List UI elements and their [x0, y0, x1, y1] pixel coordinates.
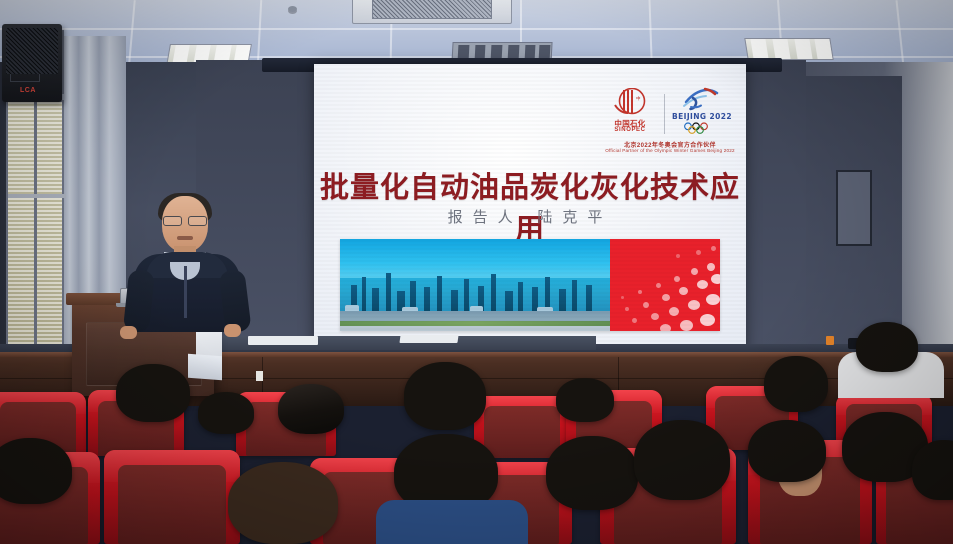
audience-head	[404, 362, 486, 430]
audience-head	[116, 364, 190, 422]
audience-head	[856, 322, 918, 372]
ceiling-ac-unit	[352, 0, 512, 24]
wall-notice-frame	[836, 170, 872, 246]
audience-head	[634, 420, 730, 500]
audience-head	[556, 378, 614, 422]
right-wall	[800, 62, 953, 362]
audience-head	[546, 436, 638, 510]
audience-head	[748, 420, 826, 482]
presenter-glasses-icon	[163, 216, 207, 224]
podium-documents-2	[188, 354, 222, 380]
stage-label-tag	[256, 371, 263, 381]
wall-speaker: LCA	[2, 24, 62, 102]
stage-papers	[248, 336, 318, 345]
stage-papers-2	[399, 335, 458, 343]
recording-light	[826, 336, 834, 345]
audience-head	[278, 384, 344, 434]
presenter-hand-right	[224, 324, 241, 337]
conference-hall-screenshot: LCA 中 中国石化 SINOPEC	[0, 0, 953, 544]
presenter	[132, 196, 242, 326]
audience-head	[0, 438, 72, 504]
presenter-hand-left	[120, 326, 137, 339]
audience-shoulders	[376, 500, 528, 544]
projection-screen: 中 中国石化 SINOPEC BEIJING 2022	[314, 64, 746, 359]
audience-head	[228, 462, 338, 544]
seat	[104, 450, 240, 544]
audience-head	[198, 392, 254, 434]
audience-head	[764, 356, 828, 412]
speaker-brand-label: LCA	[20, 87, 36, 94]
smoke-detector-icon	[288, 6, 297, 12]
window-left	[6, 100, 64, 350]
ceiling-light-right	[744, 38, 833, 60]
